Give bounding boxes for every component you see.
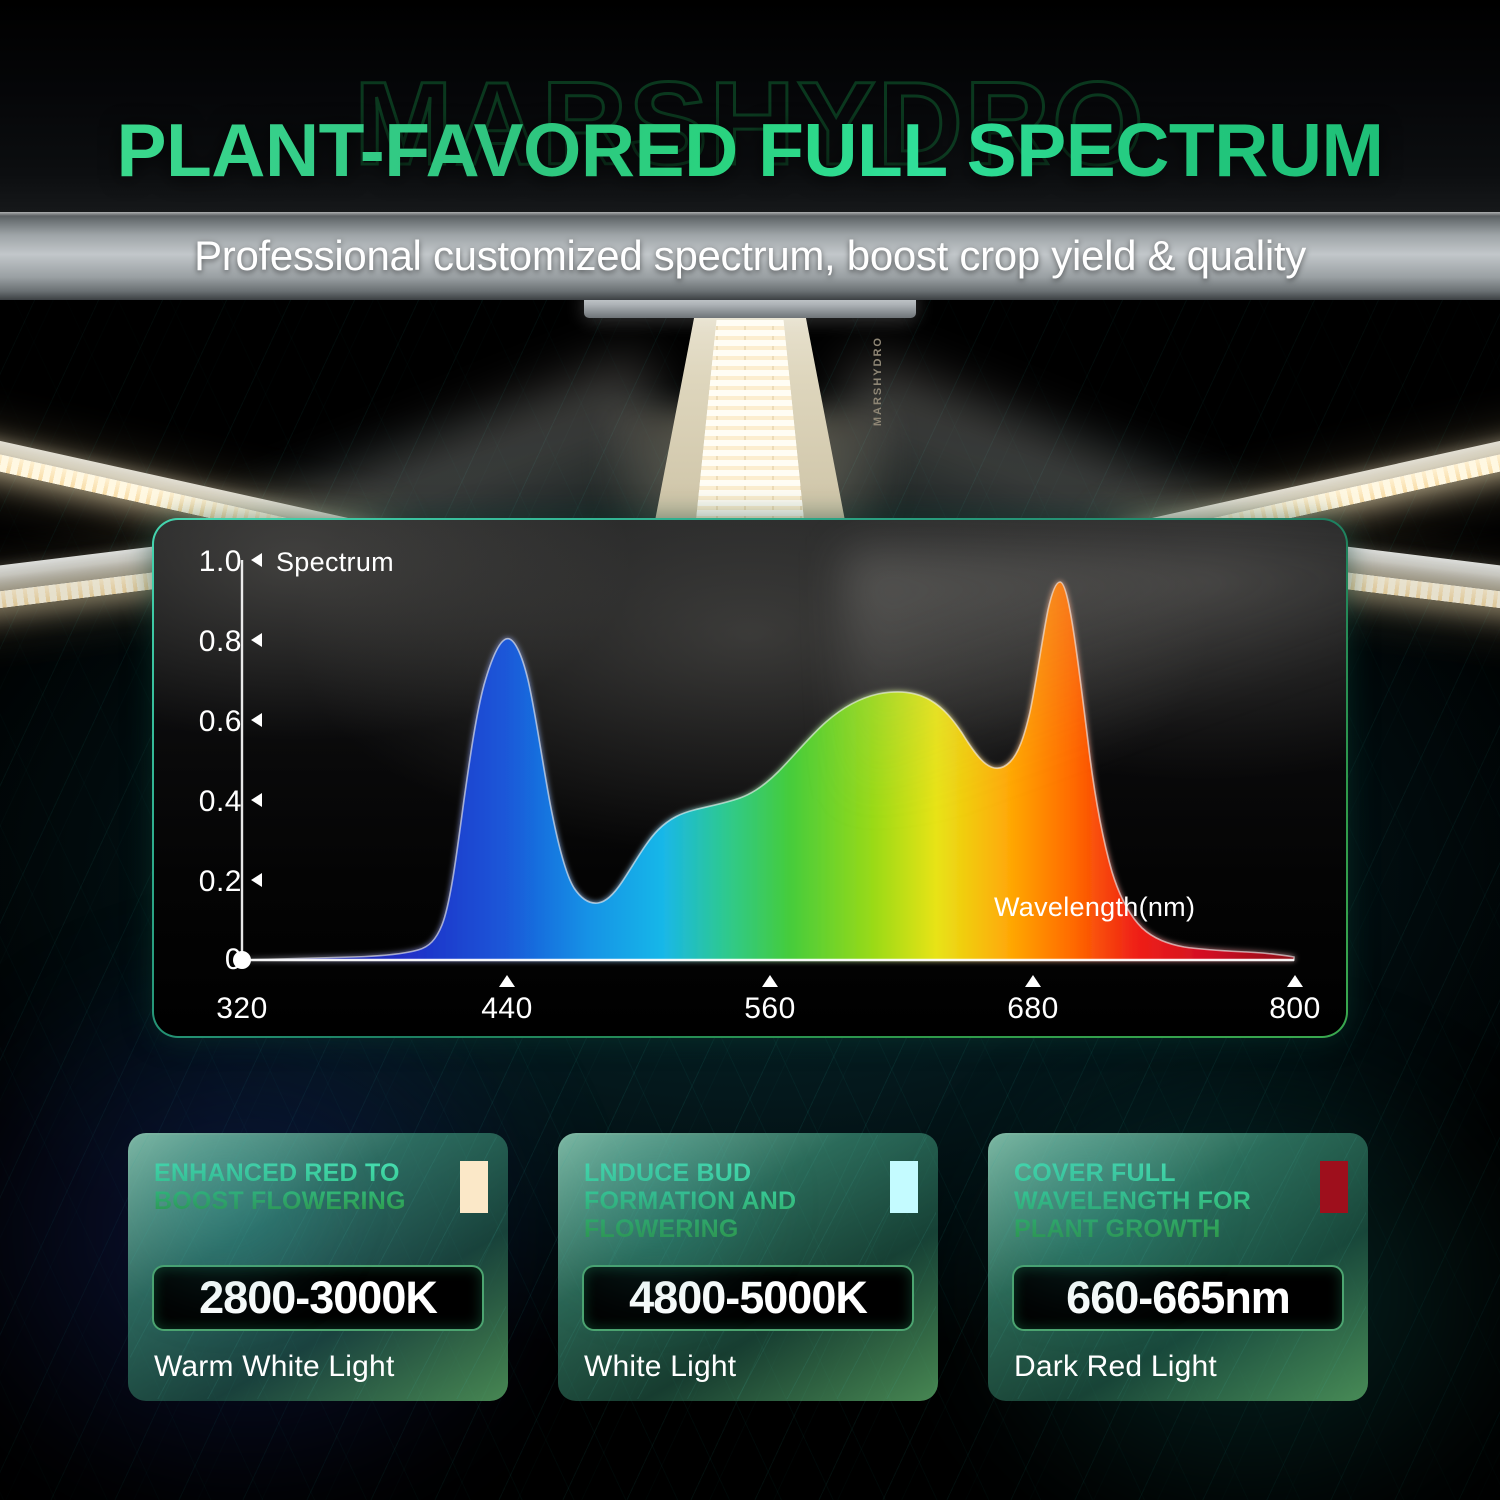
- x-tick-marker-680: [1025, 975, 1041, 987]
- page-title: PLANT-FAVORED FULL SPECTRUM: [0, 113, 1500, 188]
- y-tick-marker-3: [251, 713, 262, 727]
- spectrum-chart-panel: 1.0 0.8 0.6 0.4 0.2 0 Spectrum 320 440 5…: [152, 518, 1348, 1038]
- spectrum-chart-canvas: 1.0 0.8 0.6 0.4 0.2 0 Spectrum 320 440 5…: [154, 520, 1346, 1036]
- x-tick-marker-560: [762, 975, 778, 987]
- x-tick-label-440: 440: [452, 992, 562, 1026]
- feature-card-white-body: LNDUCE BUD FORMATION AND FLOWERING 4800-…: [560, 1135, 936, 1399]
- feature-card-warm-white-heading: ENHANCED RED TO BOOST FLOWERING: [154, 1159, 440, 1215]
- y-tick-marker-1: [251, 553, 262, 567]
- feature-card-white-footer: White Light: [584, 1350, 736, 1384]
- y-tick-marker-2: [251, 633, 262, 647]
- y-tick-label-6: 0: [172, 943, 242, 977]
- feature-card-list: ENHANCED RED TO BOOST FLOWERING 2800-300…: [0, 1133, 1500, 1413]
- y-tick-label-5: 0.2: [172, 865, 242, 899]
- feature-card-white[interactable]: LNDUCE BUD FORMATION AND FLOWERING 4800-…: [558, 1133, 938, 1401]
- x-tick-marker-440: [499, 975, 515, 987]
- feature-card-white-value: 4800-5000K: [629, 1272, 867, 1324]
- y-tick-label-1: 1.0: [172, 545, 242, 579]
- feature-card-deep-red-heading: COVER FULL WAVELENGTH FOR PLANT GROWTH: [1014, 1159, 1300, 1243]
- y-tick-label-2: 0.8: [172, 625, 242, 659]
- x-tick-label-680: 680: [978, 992, 1088, 1026]
- y-axis-title: Spectrum: [276, 547, 394, 578]
- feature-card-warm-white-value-box: 2800-3000K: [152, 1265, 484, 1331]
- feature-card-warm-white-value: 2800-3000K: [199, 1272, 437, 1324]
- feature-card-white-heading: LNDUCE BUD FORMATION AND FLOWERING: [584, 1159, 870, 1243]
- feature-card-deep-red[interactable]: COVER FULL WAVELENGTH FOR PLANT GROWTH 6…: [988, 1133, 1368, 1401]
- feature-card-deep-red-body: COVER FULL WAVELENGTH FOR PLANT GROWTH 6…: [990, 1135, 1366, 1399]
- feature-card-white-value-box: 4800-5000K: [582, 1265, 914, 1331]
- y-tick-label-4: 0.4: [172, 785, 242, 819]
- color-swatch-deep-red: [1320, 1161, 1348, 1213]
- x-tick-label-320: 320: [187, 992, 297, 1026]
- y-tick-marker-4: [251, 793, 262, 807]
- feature-card-warm-white-footer: Warm White Light: [154, 1350, 394, 1384]
- poster-stage: MARSHYDRO MARSHYDRO PLANT-FAVORED FULL S…: [0, 0, 1500, 1500]
- feature-card-warm-white-body: ENHANCED RED TO BOOST FLOWERING 2800-300…: [130, 1135, 506, 1399]
- center-grow-light-fixture: MARSHYDRO: [570, 296, 930, 548]
- x-tick-marker-800: [1287, 975, 1303, 987]
- page-subtitle: Professional customized spectrum, boost …: [0, 232, 1500, 280]
- color-swatch-warm-white: [460, 1161, 488, 1213]
- feature-card-deep-red-value: 660-665nm: [1066, 1272, 1290, 1324]
- fixture-brand-label: MARSHYDRO: [872, 336, 884, 426]
- feature-card-deep-red-value-box: 660-665nm: [1012, 1265, 1344, 1331]
- spectrum-plot: [154, 520, 1346, 1036]
- x-axis-title: Wavelength(nm): [994, 892, 1195, 923]
- x-tick-label-560: 560: [715, 992, 825, 1026]
- feature-card-warm-white[interactable]: ENHANCED RED TO BOOST FLOWERING 2800-300…: [128, 1133, 508, 1401]
- y-tick-marker-5: [251, 873, 262, 887]
- y-tick-label-3: 0.6: [172, 705, 242, 739]
- color-swatch-white: [890, 1161, 918, 1213]
- x-tick-label-800: 800: [1240, 992, 1346, 1026]
- feature-card-deep-red-footer: Dark Red Light: [1014, 1350, 1217, 1384]
